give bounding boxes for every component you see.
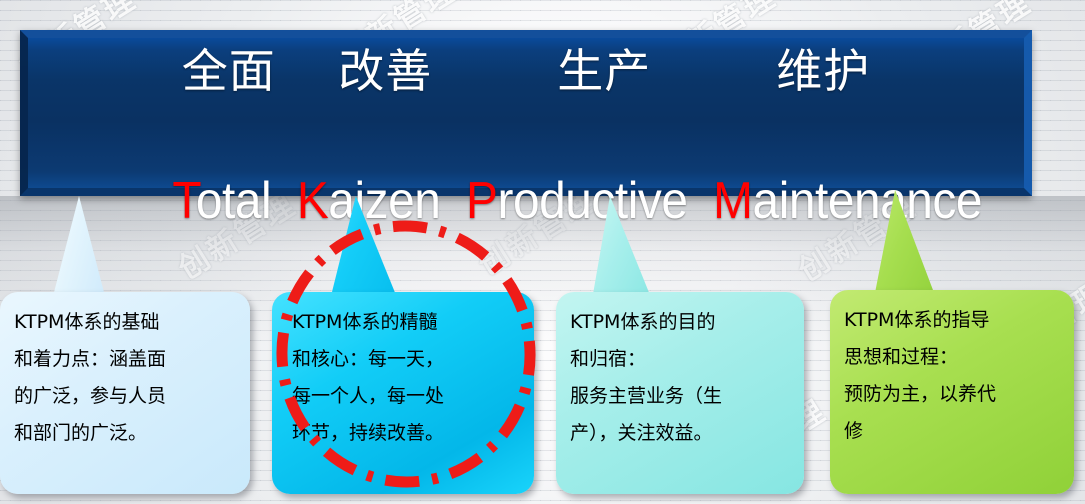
callout-productive[interactable]: KTPM体系的目的 和归宿： 服务主营业务（生 产），关注效益。 — [556, 196, 808, 504]
title-banner: 全面 改善 生产 维护 Total Kaizen Productive Main… — [20, 30, 1032, 196]
callout-body: KTPM体系的精髓 和核心：每一天， 每一个人，每一处 环节，持续改善。 — [272, 292, 534, 494]
callout-body: KTPM体系的基础 和着力点：涵盖面 的广泛，参与人员 和部门的广泛。 — [0, 292, 250, 494]
callout-kaizen[interactable]: KTPM体系的精髓 和核心：每一天， 每一个人，每一处 环节，持续改善。 — [272, 196, 540, 504]
callout-maintenance[interactable]: KTPM体系的指导 思想和过程： 预防为主，以养代 修 — [830, 190, 1080, 504]
callout-pointer-icon — [874, 190, 936, 298]
callout-pointer-icon — [592, 196, 652, 300]
callout-pointer-icon — [52, 196, 106, 300]
callout-pointer-icon — [330, 196, 398, 300]
callout-text: KTPM体系的指导 思想和过程： 预防为主，以养代 修 — [844, 302, 996, 450]
banner-content: 全面 改善 生产 维护 Total Kaizen Productive Main… — [28, 38, 1024, 188]
banner-chinese-title: 全面 改善 生产 维护 — [182, 40, 870, 102]
callout-text: KTPM体系的精髓 和核心：每一天， 每一个人，每一处 环节，持续改善。 — [292, 304, 444, 452]
callout-text: KTPM体系的目的 和归宿： 服务主营业务（生 产），关注效益。 — [570, 304, 722, 452]
callout-total[interactable]: KTPM体系的基础 和着力点：涵盖面 的广泛，参与人员 和部门的广泛。 — [0, 196, 250, 504]
callout-text: KTPM体系的基础 和着力点：涵盖面 的广泛，参与人员 和部门的广泛。 — [14, 304, 166, 452]
slide-canvas: 创新管理 创新管理 创新管理 创新管理 创新管理 创新管理 创新管理 创新管理 … — [0, 0, 1085, 504]
callout-body: KTPM体系的目的 和归宿： 服务主营业务（生 产），关注效益。 — [556, 292, 804, 494]
callout-body: KTPM体系的指导 思想和过程： 预防为主，以养代 修 — [830, 290, 1074, 494]
